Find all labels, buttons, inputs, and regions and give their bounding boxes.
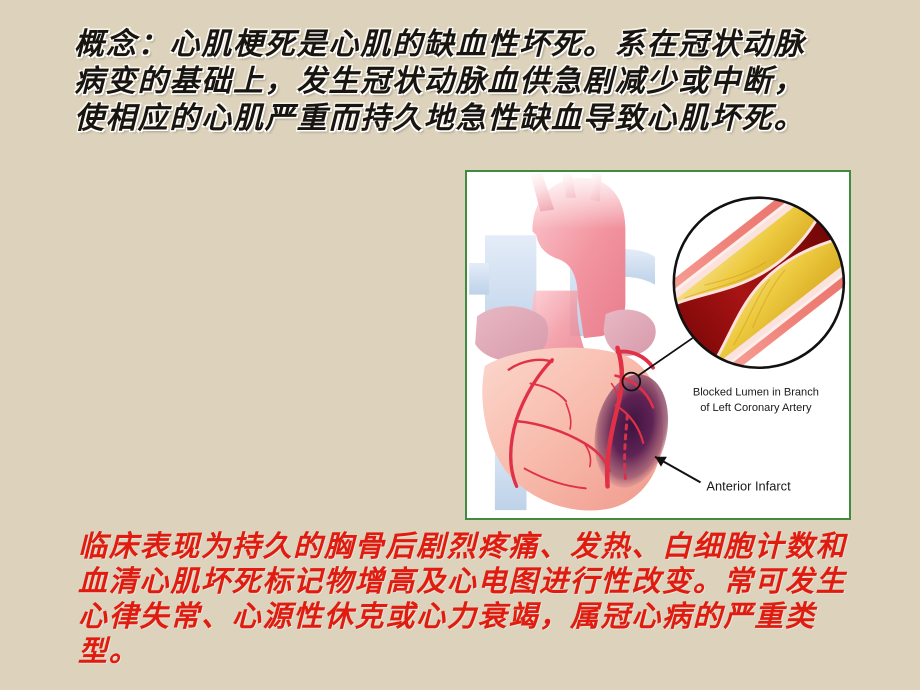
anterior-infarct-caption: Anterior Infarct xyxy=(706,478,791,493)
blocked-lumen-caption-line1: Blocked Lumen in Branch xyxy=(693,386,819,398)
top-fade-overlay xyxy=(467,172,665,229)
concept-paragraph: 概念：心肌梗死是心肌的缺血性坏死。系在冠状动脉病变的基础上，发生冠状动脉血供急剧… xyxy=(74,26,822,137)
heart-diagram-figure: Blocked Lumen in Branch of Left Coronary… xyxy=(465,170,851,520)
clinical-manifestation-paragraph: 临床表现为持久的胸骨后剧烈疼痛、发热、白细胞计数和血清心肌坏死标记物增高及心电图… xyxy=(78,530,868,670)
heart-anatomy xyxy=(467,172,678,511)
blocked-lumen-caption-line2: of Left Coronary Artery xyxy=(700,402,812,414)
vein-branch-left xyxy=(469,263,489,295)
slide-canvas: 概念：心肌梗死是心肌的缺血性坏死。系在冠状动脉病变的基础上，发生冠状动脉血供急剧… xyxy=(0,0,920,690)
heart-illustration: Blocked Lumen in Branch of Left Coronary… xyxy=(467,172,849,518)
